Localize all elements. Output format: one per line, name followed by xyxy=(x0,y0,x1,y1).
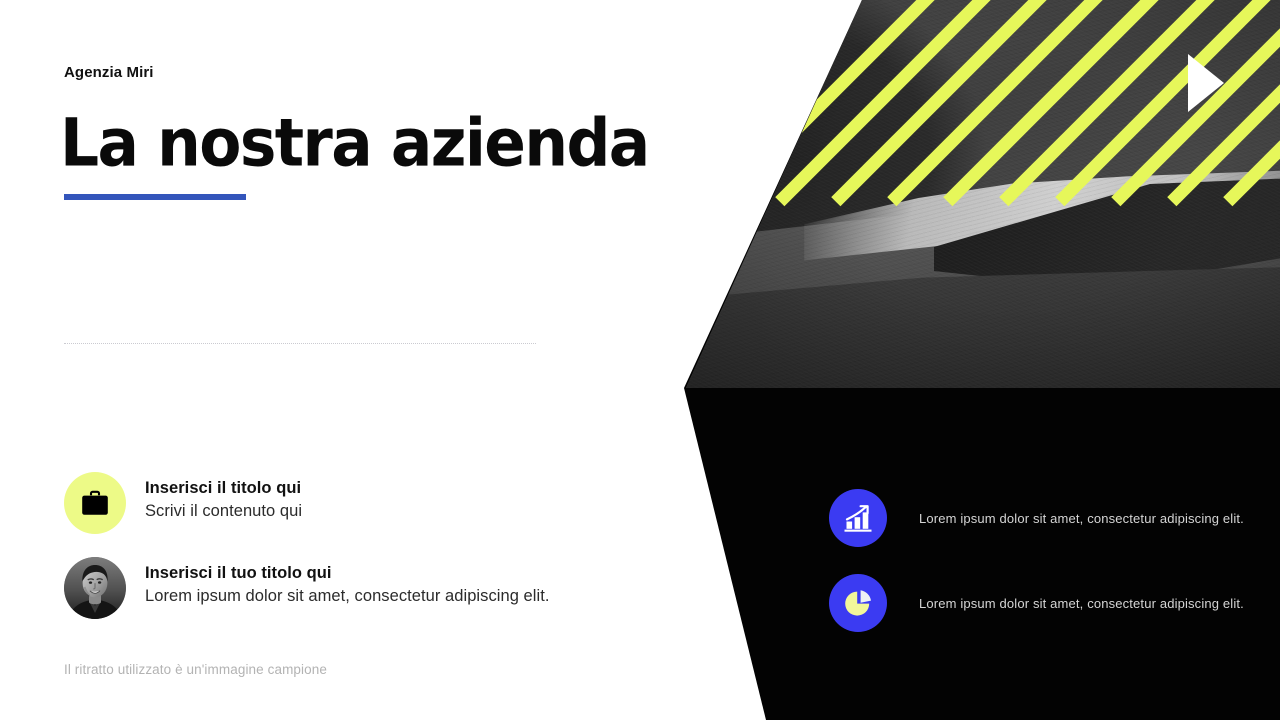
feature-1-text: Inserisci il titolo qui Scrivi il conten… xyxy=(145,472,302,524)
pie-chart-icon xyxy=(829,574,887,632)
slide-canvas: Agenzia Miri La nostra azienda Inserisci… xyxy=(0,0,1280,720)
right-bullet-1-text: Lorem ipsum dolor sit amet, consectetur … xyxy=(919,511,1244,526)
image-disclaimer-footnote: Il ritratto utilizzato è un'immagine cam… xyxy=(64,662,327,677)
briefcase-icon xyxy=(64,472,126,534)
avatar xyxy=(64,557,126,619)
bar-chart-growth-icon xyxy=(829,489,887,547)
feature-2-text: Inserisci il tuo titolo qui Lorem ipsum … xyxy=(145,557,549,609)
feature-item-2[interactable]: Inserisci il tuo titolo qui Lorem ipsum … xyxy=(64,557,549,619)
feature-1-subtitle: Scrivi il contenuto qui xyxy=(145,499,302,524)
right-bullet-2[interactable]: Lorem ipsum dolor sit amet, consectetur … xyxy=(829,574,1244,632)
page-title: La nostra azienda xyxy=(60,104,649,182)
brand-eyebrow: Agenzia Miri xyxy=(64,64,154,81)
body-placeholder-rule xyxy=(64,343,536,345)
feature-item-1[interactable]: Inserisci il titolo qui Scrivi il conten… xyxy=(64,472,302,534)
right-bullet-1[interactable]: Lorem ipsum dolor sit amet, consectetur … xyxy=(829,489,1244,547)
play-triangle-icon[interactable] xyxy=(1188,54,1224,112)
feature-2-title: Inserisci il tuo titolo qui xyxy=(145,563,549,584)
feature-1-title: Inserisci il titolo qui xyxy=(145,478,302,499)
accent-bar xyxy=(64,194,246,200)
right-bullet-2-text: Lorem ipsum dolor sit amet, consectetur … xyxy=(919,596,1244,611)
left-content-column: Agenzia Miri La nostra azienda Inserisci… xyxy=(0,0,680,720)
feature-2-subtitle: Lorem ipsum dolor sit amet, consectetur … xyxy=(145,584,549,609)
